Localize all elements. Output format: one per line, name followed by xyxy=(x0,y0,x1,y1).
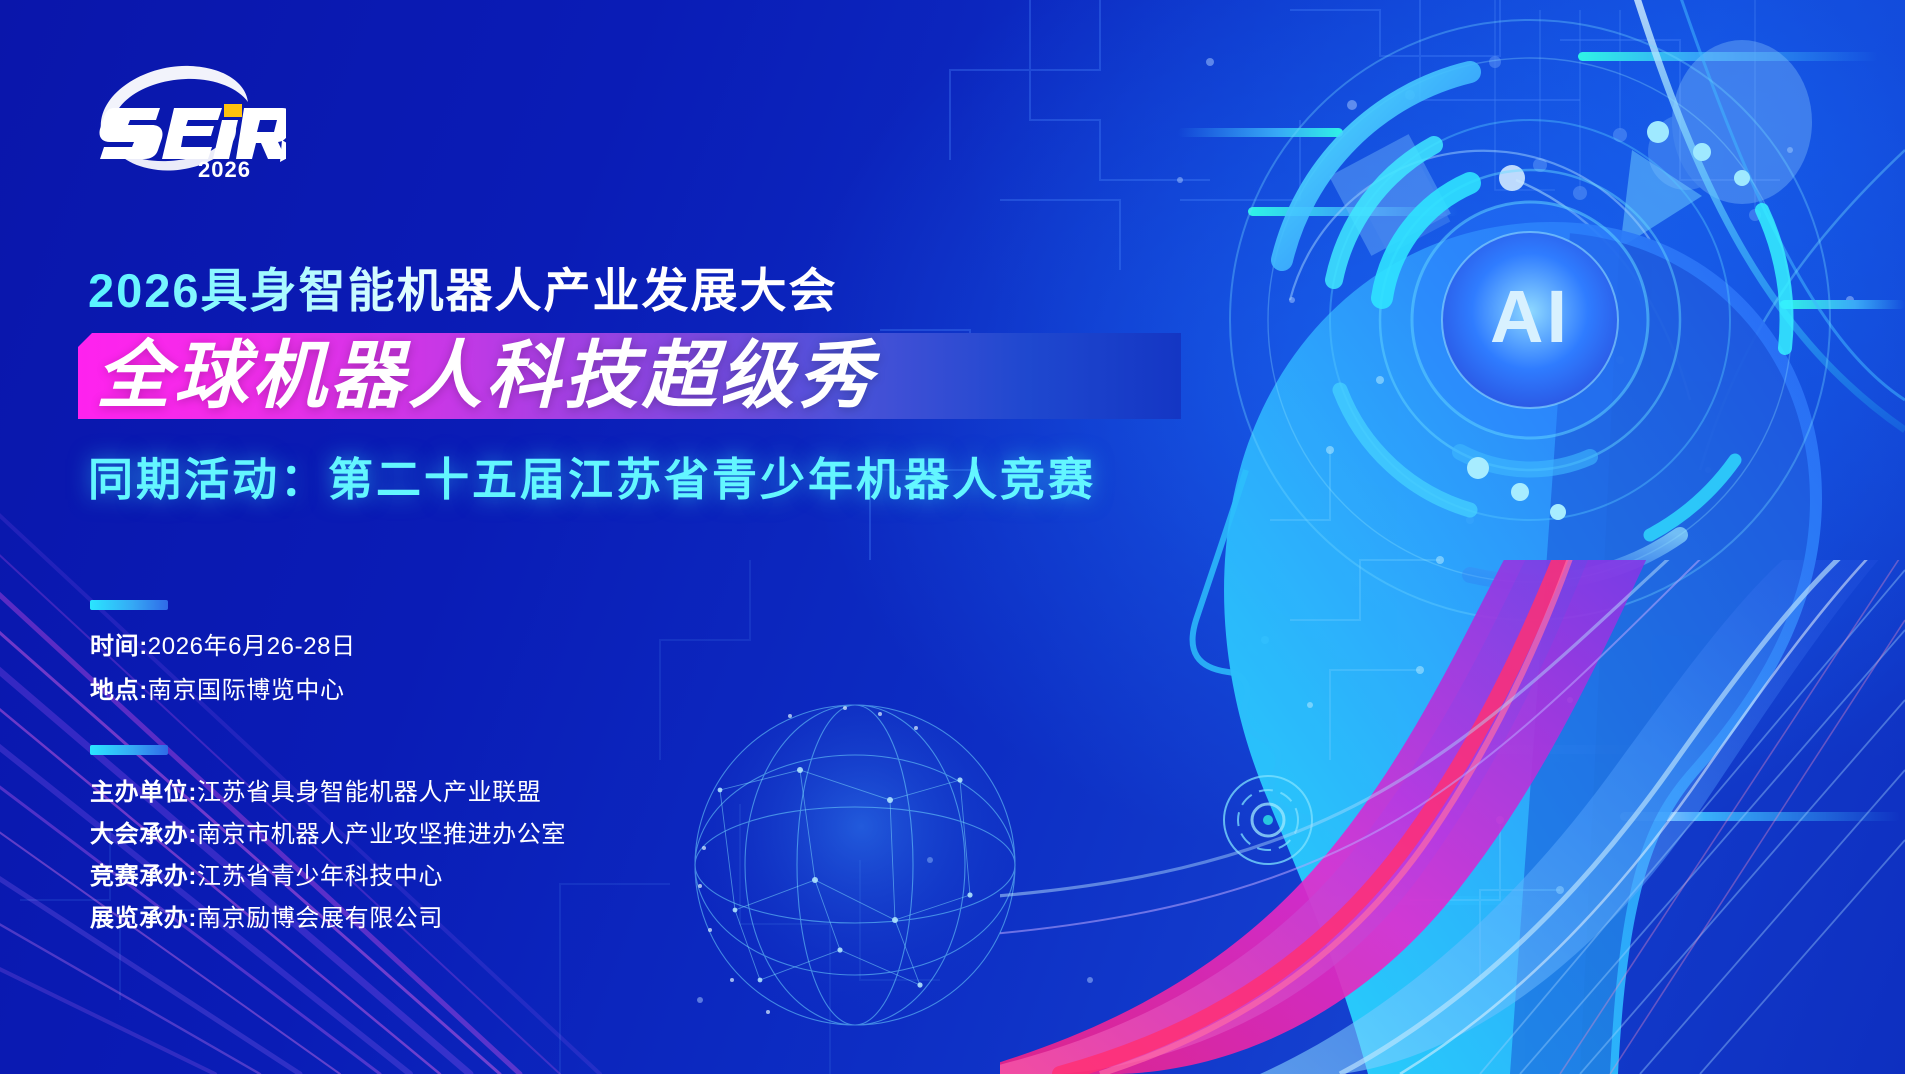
info-label: 时间: xyxy=(90,633,148,660)
headline-title: 全球机器人科技超级秀 xyxy=(96,336,876,416)
text-content: 2026具身智能机器人产业发展大会 全球机器人科技超级秀 同期活动：第二十五届江… xyxy=(0,0,1200,1074)
conference-name: 2026具身智能机器人产业发展大会 xyxy=(88,252,838,321)
info-value: 江苏省青少年科技中心 xyxy=(197,863,443,890)
info-value: 南京市机器人产业攻坚推进办公室 xyxy=(197,821,566,848)
info-label: 大会承办: xyxy=(90,821,197,848)
concurrent-event: 同期活动：第二十五届江苏省青少年机器人竞赛 xyxy=(88,443,1096,508)
info-row-venue: 地点:南京国际博览中心 xyxy=(90,670,345,705)
info-value: 南京励博会展有限公司 xyxy=(197,905,443,932)
info-value: 江苏省具身智能机器人产业联盟 xyxy=(197,779,541,806)
info-row-conference-organizer: 大会承办:南京市机器人产业攻坚推进办公室 xyxy=(90,814,566,849)
info-value: 2026年6月26-28日 xyxy=(148,633,356,660)
info-label: 竞赛承办: xyxy=(90,863,197,890)
accent-bar-when xyxy=(90,600,168,610)
ai-label: AI xyxy=(1490,275,1570,358)
info-label: 地点: xyxy=(90,677,148,704)
info-row-time: 时间:2026年6月26-28日 xyxy=(90,626,356,661)
info-label: 展览承办: xyxy=(90,905,197,932)
info-row-exhibition-organizer: 展览承办:南京励博会展有限公司 xyxy=(90,898,443,933)
accent-bar-organizers xyxy=(90,745,168,755)
info-row-competition-organizer: 竞赛承办:江苏省青少年科技中心 xyxy=(90,856,443,891)
event-banner: AI xyxy=(0,0,1905,1074)
info-row-host: 主办单位:江苏省具身智能机器人产业联盟 xyxy=(90,772,541,807)
info-label: 主办单位: xyxy=(90,779,197,806)
info-value: 南京国际博览中心 xyxy=(148,677,345,704)
